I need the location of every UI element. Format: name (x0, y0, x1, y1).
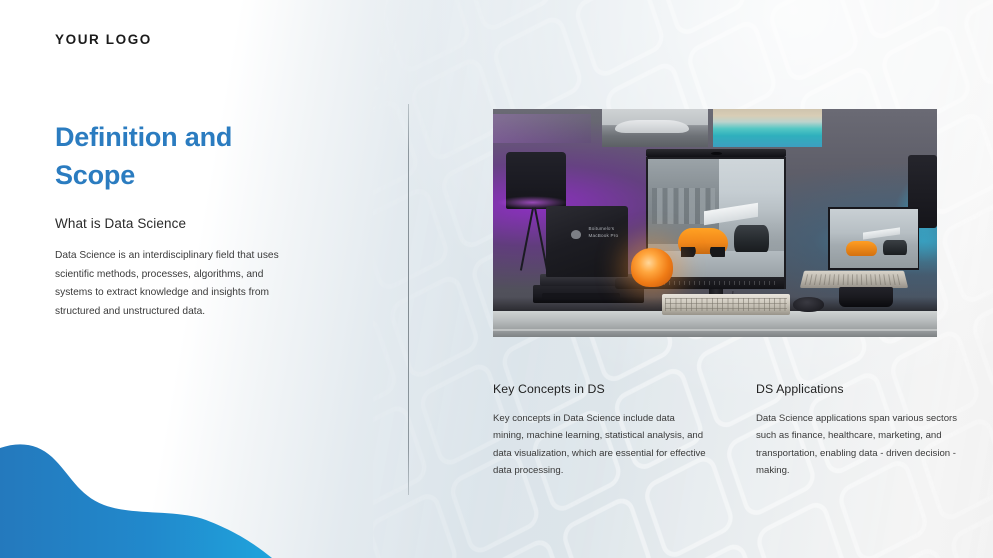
vertical-divider (408, 104, 409, 495)
section-subtitle: What is Data Science (55, 216, 345, 231)
photo-right-screen-awning (863, 227, 900, 239)
photo-mouse (793, 297, 824, 312)
photo-screen-orange-car (678, 228, 728, 254)
photo-right-laptop-keyboard (799, 270, 908, 288)
slide-canvas: YOUR LOGO Definition and Scope What is D… (0, 0, 993, 558)
photo-right-laptop-wallpaper (830, 209, 918, 269)
key-concepts-body: Key concepts in Data Science include dat… (493, 410, 708, 480)
photo-wall-art-car (602, 109, 709, 147)
logo-text: YOUR LOGO (55, 32, 152, 47)
blue-wave-decoration (0, 423, 300, 558)
section-body-text: Data Science is an interdisciplinary fie… (55, 247, 283, 323)
photo-monitor-lightbar (646, 149, 786, 157)
photo-salt-lamp (631, 248, 673, 287)
photo-right-screen-orange-car (846, 241, 878, 255)
photo-screen-suv (734, 225, 769, 252)
key-concepts-heading: Key Concepts in DS (493, 382, 708, 396)
ds-applications-column: DS Applications Data Science application… (756, 382, 971, 480)
page-title: Definition and Scope (55, 118, 285, 195)
photo-macbook-label: Boitumelo's MacBook Pro (588, 226, 628, 244)
photo-right-screen-suv (883, 240, 908, 255)
ds-applications-body: Data Science applications span various s… (756, 410, 971, 480)
photo-desk-edge (493, 329, 937, 331)
photo-wall-art-left (493, 114, 591, 144)
photo-keyboard (662, 294, 791, 316)
photo-wall-art-beach (713, 109, 822, 147)
ds-applications-heading: DS Applications (756, 382, 971, 396)
photo-right-laptop-screen (828, 207, 919, 270)
key-concepts-column: Key Concepts in DS Key concepts in Data … (493, 382, 708, 480)
workspace-photo: Boitumelo's MacBook Pro (493, 109, 937, 337)
left-content-column: Definition and Scope What is Data Scienc… (55, 118, 345, 322)
